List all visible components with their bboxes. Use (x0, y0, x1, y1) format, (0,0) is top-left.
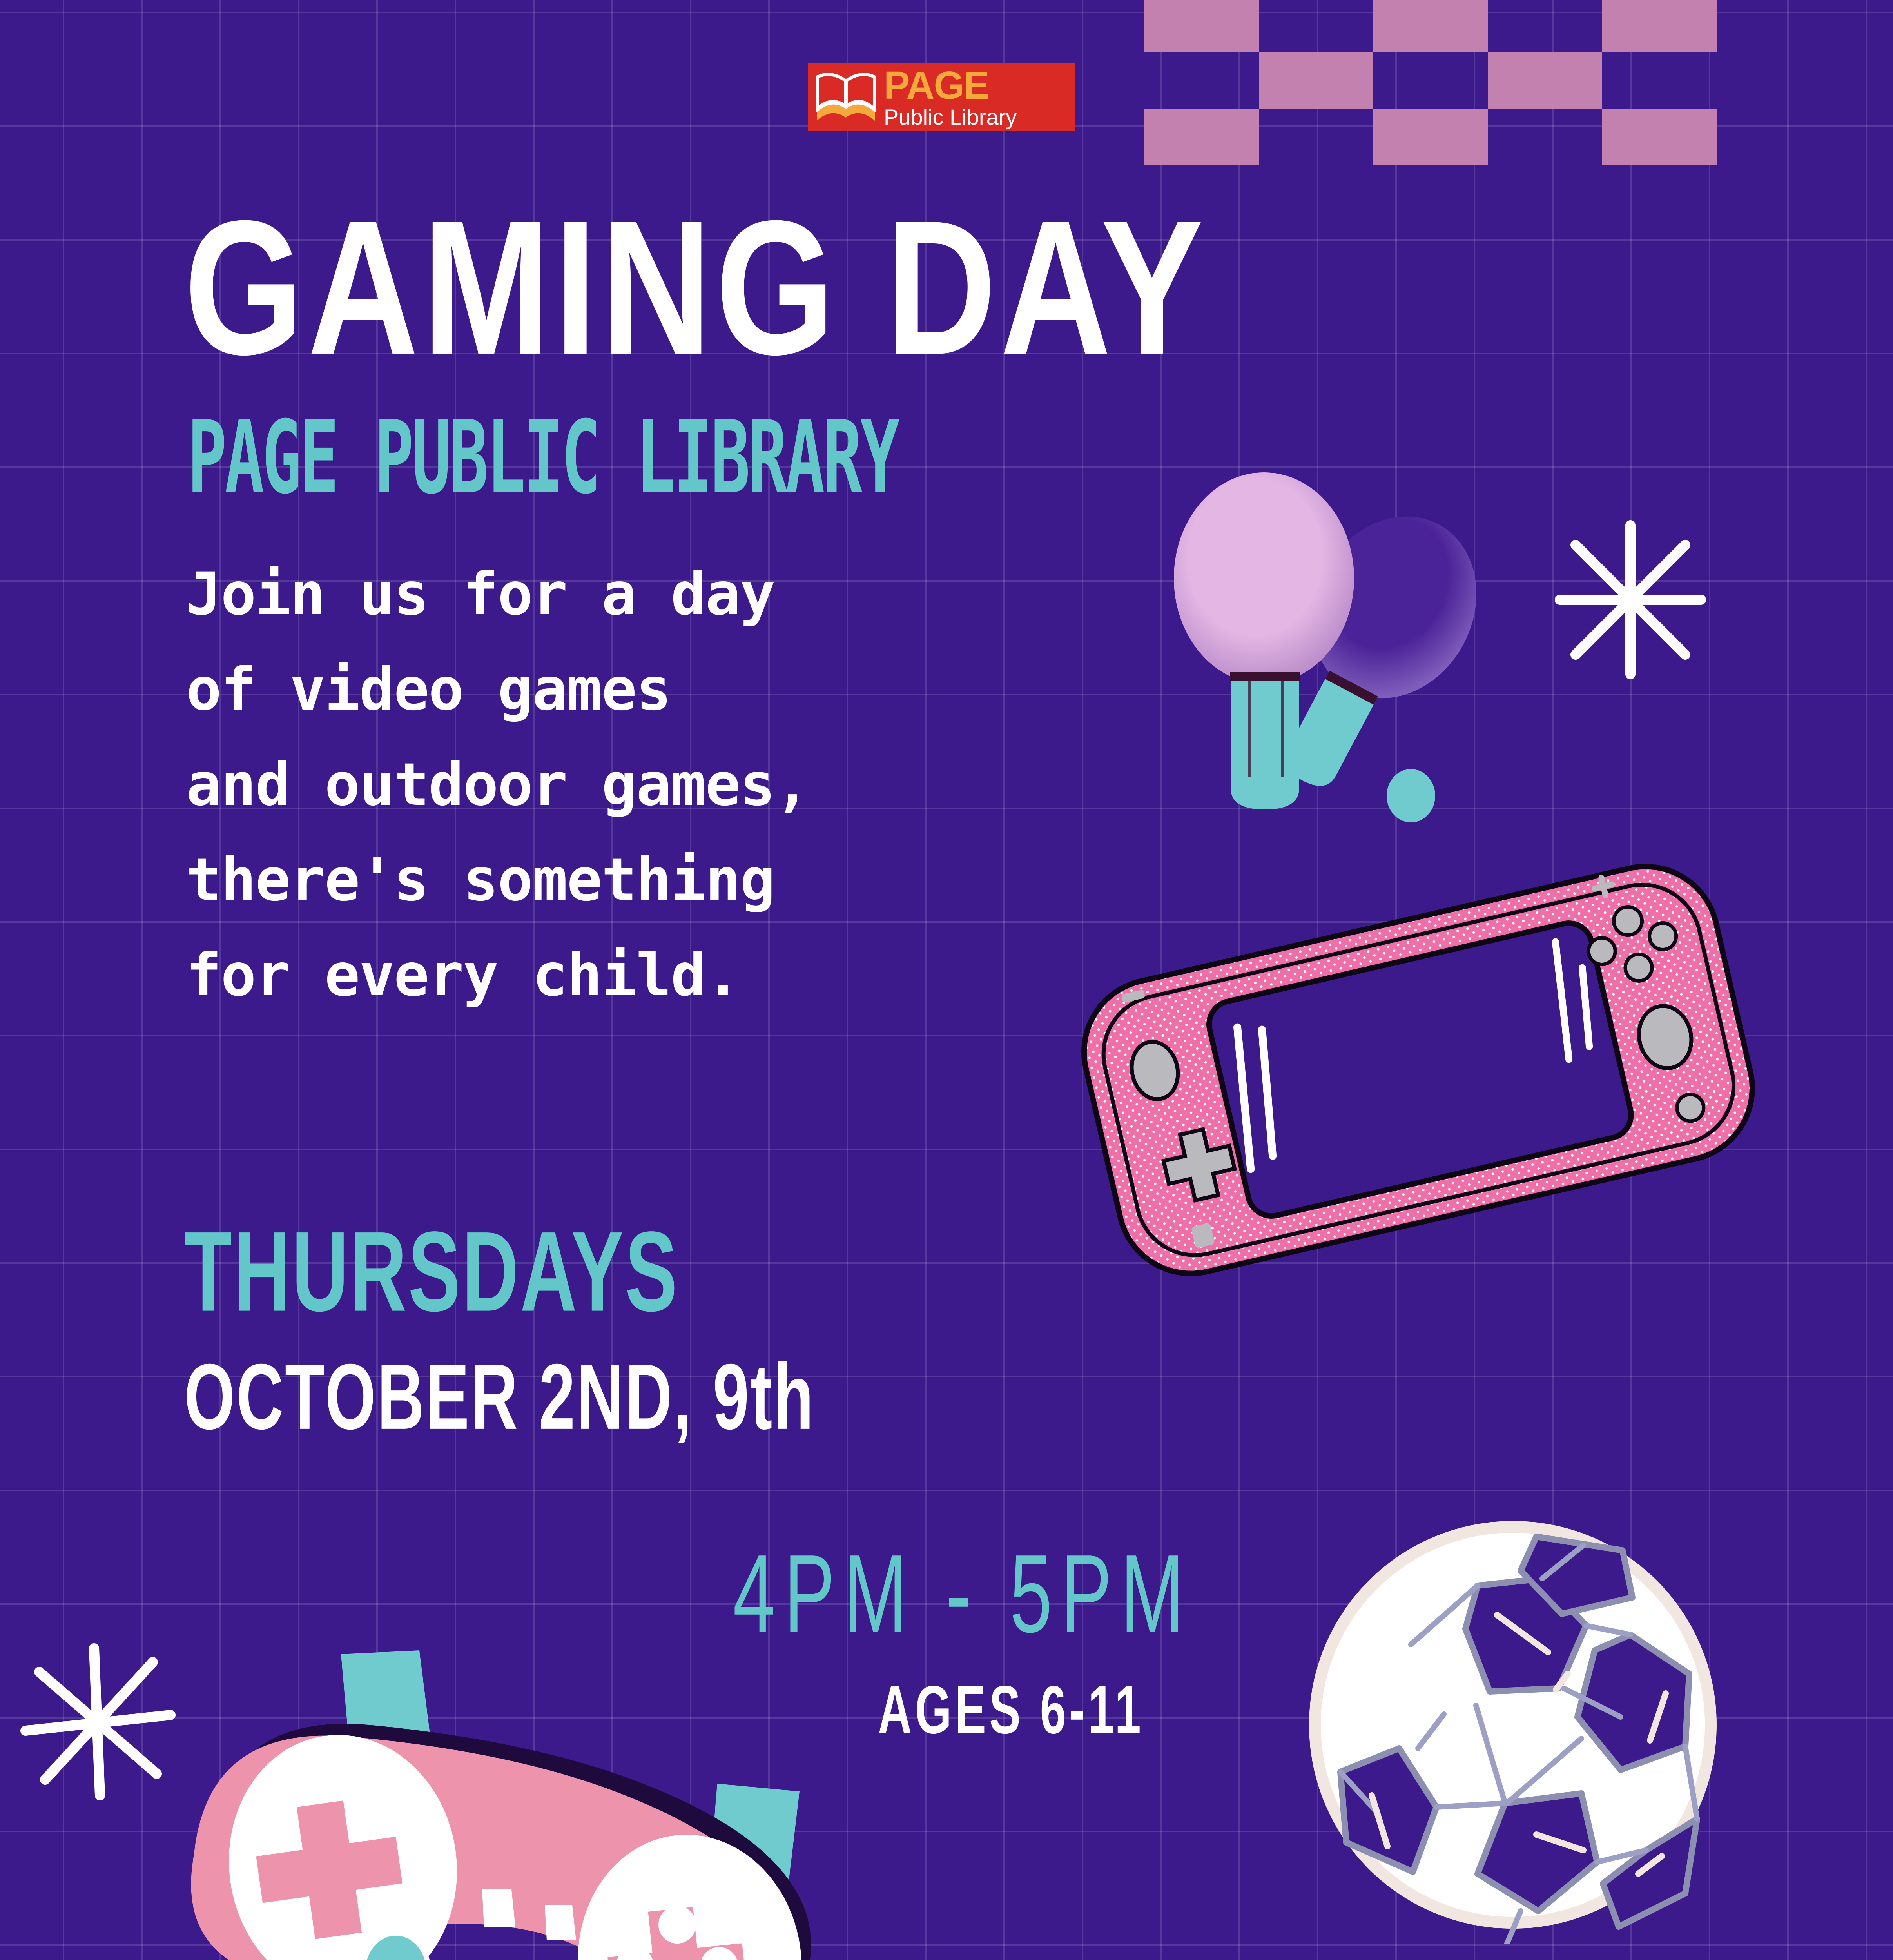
blurb-line: and outdoor games, (186, 737, 1107, 833)
sparkle-star-right-illustration (1548, 517, 1713, 682)
open-book-icon (814, 70, 878, 125)
page-title: GAMING DAY (184, 192, 1207, 383)
logo-name: PAGE (884, 66, 1017, 105)
checkerboard-top-right (1144, 0, 1717, 165)
game-controller-illustration (121, 1619, 890, 1960)
event-weekday: THURSDAYS (184, 1215, 679, 1329)
ping-pong-paddles-illustration (1105, 416, 1513, 831)
logo-wordmark: PAGE Public Library (884, 66, 1017, 128)
sparkle-star-left-illustration (16, 1639, 180, 1803)
library-logo: PAGE Public Library (808, 63, 1075, 131)
event-age-range: AGES 6-11 (878, 1676, 1144, 1744)
event-date: OCTOBER 2ND, 9th (184, 1350, 815, 1444)
page-subtitle: PAGE PUBLIC LIBRARY (187, 408, 898, 508)
blurb-line: for every child. (186, 928, 1107, 1023)
event-time: 4PM - 5PM (733, 1539, 1193, 1650)
blurb-line: Join us for a day (186, 547, 1107, 642)
blurb-line: there's something (186, 833, 1107, 928)
soccer-ball-illustration (1293, 1505, 1732, 1944)
event-description: Join us for a day of video games and out… (186, 547, 1107, 1023)
poster-canvas: PAGE Public Library GAMING DAY PAGE PUBL… (0, 0, 1893, 1960)
blurb-line: of video games (186, 642, 1107, 737)
handheld-console-illustration (1031, 804, 1803, 1325)
logo-subtitle: Public Library (884, 106, 1017, 128)
